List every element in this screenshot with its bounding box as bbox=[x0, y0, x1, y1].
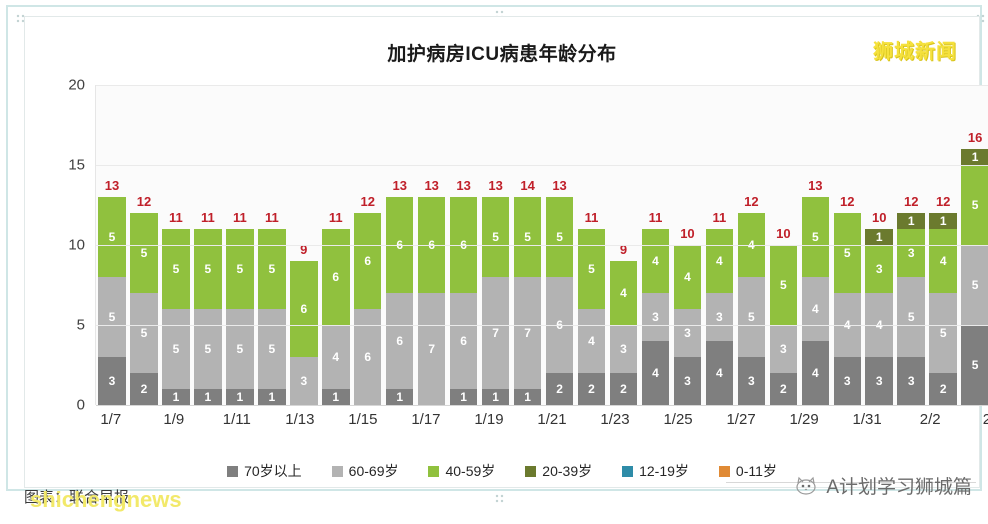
bar-segment[interactable]: 3 bbox=[674, 309, 701, 357]
bar-segment[interactable]: 1 bbox=[322, 389, 349, 405]
x-axis-tick bbox=[757, 411, 789, 441]
bar-stack[interactable]: 76 bbox=[418, 197, 445, 405]
x-axis-tick: 1/9 bbox=[158, 411, 190, 441]
x-axis-tick bbox=[316, 411, 348, 441]
bar-segment[interactable]: 1 bbox=[482, 389, 509, 405]
y-axis-tick-15: 15 bbox=[68, 157, 85, 174]
bar-segment[interactable]: 2 bbox=[546, 373, 573, 405]
bar-stack[interactable]: 234 bbox=[610, 261, 637, 405]
bar-stack[interactable]: 434 bbox=[642, 229, 669, 405]
bar-segment[interactable]: 3 bbox=[738, 357, 765, 405]
bar-segment[interactable]: 5 bbox=[961, 245, 988, 325]
source-caption: 图表：联合早报 shichengnews bbox=[24, 486, 129, 507]
bar-total-label: 13 bbox=[96, 178, 128, 193]
x-axis-tick bbox=[253, 411, 285, 441]
bar-segment[interactable]: 5 bbox=[130, 293, 157, 373]
bar-segment[interactable]: 1 bbox=[929, 213, 956, 229]
bar-total-label: 11 bbox=[320, 210, 352, 225]
bar-segment[interactable]: 3 bbox=[98, 357, 125, 405]
legend-item-0[interactable]: 70岁以上 bbox=[227, 461, 302, 481]
legend-swatch-icon bbox=[719, 466, 730, 477]
bar-stack[interactable]: 434 bbox=[706, 229, 733, 405]
bar-segment[interactable]: 5 bbox=[514, 197, 541, 277]
bar-segment[interactable]: 7 bbox=[418, 293, 445, 405]
bar-segment[interactable]: 5 bbox=[802, 197, 829, 277]
bar-segment[interactable]: 2 bbox=[770, 373, 797, 405]
plot-area: 1335512255111551115511155111559361114612… bbox=[95, 85, 988, 405]
account-signature[interactable]: A计划学习狮城篇 bbox=[794, 472, 972, 499]
bar-segment[interactable]: 5 bbox=[98, 197, 125, 277]
bar-segment[interactable]: 3 bbox=[770, 325, 797, 373]
legend-label: 40-59岁 bbox=[445, 461, 495, 481]
bar-segment[interactable]: 4 bbox=[674, 245, 701, 309]
bar-total-label: 13 bbox=[480, 178, 512, 193]
gridline-15 bbox=[96, 165, 988, 166]
bar-segment[interactable]: 5 bbox=[226, 229, 253, 309]
y-axis-tick-10: 10 bbox=[68, 237, 85, 254]
bar-segment[interactable]: 5 bbox=[546, 197, 573, 277]
bar-segment[interactable]: 5 bbox=[162, 229, 189, 309]
bar-stack[interactable]: 345 bbox=[834, 213, 861, 405]
bar-segment[interactable]: 5 bbox=[961, 165, 988, 245]
bar-total-label: 10 bbox=[671, 226, 703, 241]
bar-segment[interactable]: 7 bbox=[482, 277, 509, 389]
legend-swatch-icon bbox=[332, 466, 343, 477]
x-axis-tick: 1/19 bbox=[473, 411, 505, 441]
legend-swatch-icon bbox=[227, 466, 238, 477]
legend-label: 12-19岁 bbox=[639, 461, 689, 481]
x-axis-tick bbox=[883, 411, 915, 441]
bar-stack[interactable]: 155 bbox=[162, 229, 189, 405]
bar-stack[interactable]: 166 bbox=[386, 197, 413, 405]
legend-item-4[interactable]: 12-19岁 bbox=[622, 461, 689, 481]
bar-stack[interactable]: 175 bbox=[514, 197, 541, 405]
x-axis-tick: 1/11 bbox=[221, 411, 253, 441]
bar-stack[interactable]: 2541 bbox=[929, 213, 956, 405]
bar-stack[interactable]: 445 bbox=[802, 197, 829, 405]
legend-label: 60-69岁 bbox=[349, 461, 399, 481]
bar-total-label: 10 bbox=[767, 226, 799, 241]
bar-segment[interactable]: 2 bbox=[578, 373, 605, 405]
bar-segment[interactable]: 5 bbox=[929, 293, 956, 373]
legend-item-3[interactable]: 20-39岁 bbox=[525, 461, 592, 481]
bar-stack[interactable]: 245 bbox=[578, 229, 605, 405]
x-axis-tick bbox=[505, 411, 537, 441]
legend-swatch-icon bbox=[525, 466, 536, 477]
bar-segment[interactable]: 5 bbox=[258, 309, 285, 389]
bar-segment[interactable]: 2 bbox=[610, 373, 637, 405]
bar-stack[interactable]: 36 bbox=[290, 261, 317, 405]
bar-segment[interactable]: 5 bbox=[897, 277, 924, 357]
bar-total-label: 11 bbox=[256, 210, 288, 225]
bar-segment[interactable]: 4 bbox=[610, 261, 637, 325]
legend-label: 20-39岁 bbox=[542, 461, 592, 481]
bar-stack[interactable]: 166 bbox=[450, 197, 477, 405]
x-axis-tick: 1/21 bbox=[536, 411, 568, 441]
bar-total-label: 14 bbox=[512, 178, 544, 193]
bar-segment[interactable]: 1 bbox=[194, 389, 221, 405]
bar-total-label: 12 bbox=[352, 194, 384, 209]
bar-segment[interactable]: 4 bbox=[706, 341, 733, 405]
chart-plot: 05101520 1335512255111551115511155111559… bbox=[51, 85, 988, 405]
bar-segment[interactable]: 5 bbox=[738, 277, 765, 357]
bar-segment[interactable]: 4 bbox=[578, 309, 605, 373]
gridline-5 bbox=[96, 325, 988, 326]
bar-stack[interactable]: 146 bbox=[322, 229, 349, 405]
bar-segment[interactable]: 3 bbox=[642, 293, 669, 341]
bar-segment[interactable]: 3 bbox=[865, 357, 892, 405]
bar-stack[interactable]: 255 bbox=[130, 213, 157, 405]
x-axis-tick: 1/23 bbox=[599, 411, 631, 441]
footer-watermark: shichengnews bbox=[30, 487, 182, 513]
bar-segment[interactable]: 1 bbox=[897, 213, 924, 229]
bar-total-label: 11 bbox=[703, 210, 735, 225]
legend-item-2[interactable]: 40-59岁 bbox=[428, 461, 495, 481]
x-axis-tick bbox=[127, 411, 159, 441]
bar-segment[interactable]: 5 bbox=[98, 277, 125, 357]
bar-segment[interactable]: 6 bbox=[450, 293, 477, 389]
x-axis-tick: 1/7 bbox=[95, 411, 127, 441]
account-name: A计划学习狮城篇 bbox=[826, 472, 972, 499]
legend-item-5[interactable]: 0-11岁 bbox=[719, 461, 777, 481]
bar-segment[interactable]: 5 bbox=[834, 213, 861, 293]
x-axis-tick: 1/15 bbox=[347, 411, 379, 441]
bar-segment[interactable]: 6 bbox=[386, 293, 413, 389]
bar-total-label: 12 bbox=[128, 194, 160, 209]
bar-segment[interactable]: 3 bbox=[290, 357, 317, 405]
bar-segment[interactable]: 7 bbox=[514, 277, 541, 389]
bar-segment[interactable]: 1 bbox=[514, 389, 541, 405]
gridline-20 bbox=[96, 85, 988, 86]
bar-segment[interactable]: 5 bbox=[961, 325, 988, 405]
bar-segment[interactable]: 5 bbox=[258, 229, 285, 309]
x-axis-tick: 1/25 bbox=[662, 411, 694, 441]
x-axis-tick bbox=[568, 411, 600, 441]
bar-segment[interactable]: 3 bbox=[610, 325, 637, 373]
bar-segment[interactable]: 2 bbox=[929, 373, 956, 405]
gridline-10 bbox=[96, 245, 988, 246]
y-axis: 05101520 bbox=[51, 85, 91, 405]
bar-total-label: 13 bbox=[416, 178, 448, 193]
bar-segment[interactable]: 3 bbox=[897, 357, 924, 405]
bar-segment[interactable]: 1 bbox=[162, 389, 189, 405]
bar-segment[interactable]: 6 bbox=[322, 229, 349, 325]
bar-segment[interactable]: 6 bbox=[354, 309, 381, 405]
y-axis-tick-0: 0 bbox=[77, 397, 85, 414]
x-axis-tick: 1/31 bbox=[851, 411, 883, 441]
bar-segment[interactable]: 4 bbox=[802, 341, 829, 405]
bar-stack[interactable]: 175 bbox=[482, 197, 509, 405]
bar-stack[interactable]: 155 bbox=[226, 229, 253, 405]
bar-segment[interactable]: 4 bbox=[802, 277, 829, 341]
bar-total-label: 12 bbox=[831, 194, 863, 209]
bar-segment[interactable]: 3 bbox=[706, 293, 733, 341]
chart-card: 加护病房ICU病患年龄分布 狮城新闻 05101520 133551225511… bbox=[24, 16, 980, 488]
bar-stack[interactable]: 354 bbox=[738, 213, 765, 405]
bar-total-label: 12 bbox=[895, 194, 927, 209]
bar-segment[interactable]: 1 bbox=[258, 389, 285, 405]
watermark-top: 狮城新闻 bbox=[873, 35, 957, 64]
bar-segment[interactable]: 5 bbox=[578, 229, 605, 309]
bar-segment[interactable]: 1 bbox=[865, 229, 892, 245]
bar-segment[interactable]: 5 bbox=[194, 229, 221, 309]
bar-segment[interactable]: 4 bbox=[706, 229, 733, 293]
bar-segment[interactable]: 4 bbox=[322, 325, 349, 389]
bar-segment[interactable]: 3 bbox=[674, 357, 701, 405]
bar-stack[interactable]: 155 bbox=[258, 229, 285, 405]
bar-segment[interactable]: 6 bbox=[290, 261, 317, 357]
resize-handle-bottom-center[interactable] bbox=[495, 494, 504, 503]
bar-segment[interactable]: 2 bbox=[130, 373, 157, 405]
bar-total-label: 13 bbox=[544, 178, 576, 193]
x-axis-tick: 1/27 bbox=[725, 411, 757, 441]
bar-segment[interactable]: 1 bbox=[226, 389, 253, 405]
bar-total-label: 13 bbox=[384, 178, 416, 193]
bar-total-label: 11 bbox=[639, 210, 671, 225]
x-axis-tick: 2/4 bbox=[977, 411, 988, 441]
x-axis-tick: 2/2 bbox=[914, 411, 946, 441]
bar-segment[interactable]: 5 bbox=[226, 309, 253, 389]
bar-segment[interactable]: 5 bbox=[194, 309, 221, 389]
x-axis: 1/71/91/111/131/151/171/191/211/231/251/… bbox=[95, 411, 988, 441]
bar-total-label: 11 bbox=[224, 210, 256, 225]
bar-segment[interactable]: 5 bbox=[482, 197, 509, 277]
bar-total-label: 16 bbox=[959, 130, 988, 145]
legend-item-1[interactable]: 60-69岁 bbox=[332, 461, 399, 481]
bar-segment[interactable]: 3 bbox=[897, 229, 924, 277]
legend-swatch-icon bbox=[622, 466, 633, 477]
bar-total-label: 12 bbox=[927, 194, 959, 209]
bar-segment[interactable]: 5 bbox=[162, 309, 189, 389]
bar-total-label: 13 bbox=[799, 178, 831, 193]
bar-segment[interactable]: 5 bbox=[130, 213, 157, 293]
bar-stack[interactable]: 5551 bbox=[961, 149, 988, 405]
x-axis-tick: 1/29 bbox=[788, 411, 820, 441]
page-title: 加护病房ICU病患年龄分布 bbox=[25, 39, 979, 66]
editor-frame: 加护病房ICU病患年龄分布 狮城新闻 05101520 133551225511… bbox=[6, 5, 982, 491]
x-axis-tick bbox=[190, 411, 222, 441]
bar-stack[interactable]: 265 bbox=[546, 197, 573, 405]
bar-stack[interactable]: 3531 bbox=[897, 213, 924, 405]
bar-segment[interactable]: 4 bbox=[642, 341, 669, 405]
bar-total-label: 12 bbox=[735, 194, 767, 209]
bar-total-label: 10 bbox=[863, 210, 895, 225]
bar-segment[interactable]: 1 bbox=[450, 389, 477, 405]
bar-total-label: 11 bbox=[576, 210, 608, 225]
bar-segment[interactable]: 1 bbox=[386, 389, 413, 405]
x-axis-tick: 1/13 bbox=[284, 411, 316, 441]
bar-stack[interactable]: 66 bbox=[354, 213, 381, 405]
bar-total-label: 11 bbox=[160, 210, 192, 225]
legend-label: 70岁以上 bbox=[244, 461, 302, 481]
bar-total-label: 13 bbox=[448, 178, 480, 193]
x-axis-tick bbox=[820, 411, 852, 441]
bar-total-label: 11 bbox=[192, 210, 224, 225]
cat-icon bbox=[794, 476, 820, 496]
bar-stack[interactable]: 3431 bbox=[865, 229, 892, 405]
bar-segment[interactable]: 1 bbox=[961, 149, 988, 165]
bar-segment[interactable]: 3 bbox=[865, 245, 892, 293]
y-axis-tick-5: 5 bbox=[77, 317, 85, 334]
legend-label: 0-11岁 bbox=[736, 461, 777, 481]
y-axis-tick-20: 20 bbox=[68, 77, 85, 94]
bar-segment[interactable]: 6 bbox=[354, 213, 381, 309]
bar-segment[interactable]: 5 bbox=[770, 245, 797, 325]
x-axis-tick bbox=[694, 411, 726, 441]
x-axis-tick: 1/17 bbox=[410, 411, 442, 441]
bar-segment[interactable]: 4 bbox=[642, 229, 669, 293]
bar-segment[interactable]: 3 bbox=[834, 357, 861, 405]
x-axis-tick bbox=[442, 411, 474, 441]
x-axis-tick bbox=[631, 411, 663, 441]
bar-stack[interactable]: 355 bbox=[98, 197, 125, 405]
bar-stack[interactable]: 155 bbox=[194, 229, 221, 405]
bar-segment[interactable]: 4 bbox=[929, 229, 956, 293]
gridline-0 bbox=[96, 405, 988, 406]
x-axis-tick bbox=[946, 411, 978, 441]
legend-swatch-icon bbox=[428, 466, 439, 477]
x-axis-tick bbox=[379, 411, 411, 441]
